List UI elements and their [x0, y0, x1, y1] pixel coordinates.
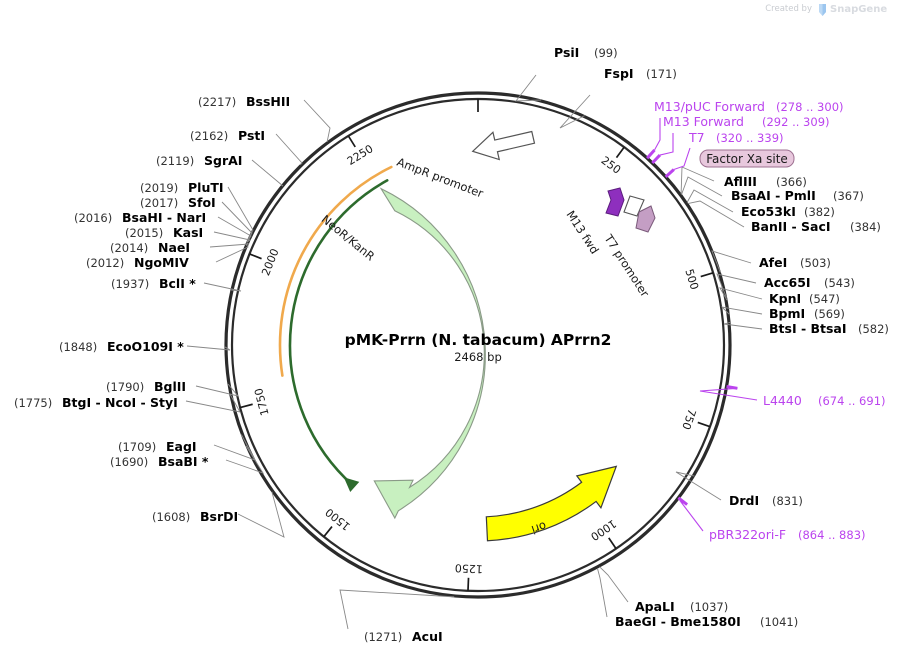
ruler-tick-label-1000: 1000 — [588, 517, 618, 543]
leader-line — [681, 167, 714, 194]
primer-label-m13fwd[interactable]: M13 Forward(292 .. 309) — [663, 114, 830, 129]
primer-range: (320 .. 339) — [716, 131, 784, 145]
enzyme-position: (1041) — [760, 615, 798, 629]
enzyme-position: (2016) — [74, 211, 112, 225]
primer-tick-m13puc — [647, 150, 654, 158]
feature-label-t7-promoter: T7 promoter — [601, 231, 652, 300]
primer-name: M13/pUC Forward — [654, 99, 765, 114]
enzyme-label-acc65I[interactable]: Acc65I(543) — [764, 275, 855, 290]
enzyme-label-btgI[interactable]: (1775)BtgI - NcoI - StyI — [14, 395, 178, 410]
leader-line — [204, 283, 241, 291]
enzyme-position: (367) — [833, 189, 864, 203]
enzyme-position: (99) — [594, 46, 618, 60]
enzyme-name: BanII - SacI — [751, 219, 831, 234]
enzyme-name: PsiI — [554, 45, 579, 60]
ruler-tick-mark — [698, 422, 710, 426]
leader-line — [218, 217, 251, 242]
primer-label-t7[interactable]: T7(320 .. 339) — [688, 130, 784, 145]
enzyme-name: ApaLI — [635, 599, 675, 614]
enzyme-name: BsaAI - PmlI — [731, 188, 816, 203]
enzyme-name: BglII — [154, 379, 186, 394]
feature-label-m13-fwd: M13 fwd — [563, 208, 601, 257]
enzyme-label-btsI[interactable]: BtsI - BtsaI(582) — [769, 321, 889, 336]
enzyme-position: (2119) — [156, 154, 194, 168]
leader-line — [676, 472, 721, 500]
primer-leader-l4440 — [700, 388, 757, 400]
enzyme-position: (2014) — [110, 241, 148, 255]
primer-name: L4440 — [763, 393, 802, 408]
enzyme-name: BsaBI * — [158, 454, 209, 469]
primer-label-m13puc[interactable]: M13/pUC Forward(278 .. 300) — [654, 99, 844, 114]
watermark-brand: SnapGene — [830, 4, 887, 15]
enzyme-label-banII[interactable]: BanII - SacI(384) — [751, 219, 881, 234]
enzyme-position: (2012) — [86, 256, 124, 270]
enzyme-name: DrdI — [729, 493, 759, 508]
ruler-tick-label-750: 750 — [679, 407, 698, 431]
ruler-tick-mark — [249, 254, 261, 259]
enzyme-label-apaLI[interactable]: ApaLI(1037) — [635, 599, 728, 614]
enzyme-position: (1775) — [14, 396, 52, 410]
ruler-tick-mark — [240, 404, 253, 407]
enzyme-position: (831) — [772, 494, 803, 508]
enzyme-label-kpnI[interactable]: KpnI(547) — [769, 291, 840, 306]
ruler-tick-label-250: 250 — [599, 154, 624, 177]
enzyme-label-bsaAI[interactable]: BsaAI - PmlI(367) — [731, 188, 864, 203]
enzyme-name: BaeGI - Bme1580I — [615, 614, 741, 629]
enzyme-name: PstI — [238, 128, 265, 143]
enzyme-position: (1608) — [152, 510, 190, 524]
enzyme-position: (1271) — [364, 630, 402, 644]
enzyme-label-fspI[interactable]: FspI(171) — [604, 66, 677, 81]
ruler-tick-mark — [324, 527, 332, 537]
snapgene-watermark: Created by SnapGene — [765, 4, 887, 16]
feature-label-neor-kanr: NeoR/KanR — [319, 212, 378, 263]
enzyme-name: BssHII — [246, 94, 290, 109]
leader-line — [304, 100, 330, 142]
enzyme-label-baeGI[interactable]: BaeGI - Bme1580I(1041) — [615, 614, 798, 629]
enzyme-name: SfoI — [188, 195, 216, 210]
ruler-tick-label-500: 500 — [682, 267, 701, 291]
leader-line — [597, 568, 607, 617]
ruler-tick-mark — [348, 136, 355, 147]
enzyme-position: (1937) — [111, 277, 149, 291]
primer-range: (864 .. 883) — [798, 528, 866, 542]
enzyme-label-sgrAI[interactable]: (2119)SgrAI — [156, 153, 242, 168]
enzyme-position: (569) — [814, 307, 845, 321]
enzyme-position: (2162) — [190, 129, 228, 143]
enzyme-position: (1037) — [690, 600, 728, 614]
primer-label-l4440[interactable]: L4440(674 .. 691) — [763, 393, 886, 408]
primer-tick-t7 — [666, 169, 674, 176]
ruler-tick-label-2250: 2250 — [345, 142, 376, 168]
enzyme-name: AfeI — [759, 255, 787, 270]
enzyme-position: (1709) — [118, 440, 156, 454]
enzyme-name: Eco53kI — [741, 204, 796, 219]
enzyme-position: (171) — [646, 67, 677, 81]
primer-range: (674 .. 691) — [818, 394, 886, 408]
enzyme-name: FspI — [604, 66, 634, 81]
enzyme-label-aflIII[interactable]: AflIII(366) — [724, 174, 807, 189]
enzyme-label-pluTI[interactable]: (2019)PluTI — [140, 180, 224, 195]
plasmid-size: 2468 bp — [454, 350, 502, 364]
enzyme-name: Acc65I — [764, 275, 811, 290]
enzyme-position: (582) — [858, 322, 889, 336]
enzyme-name: AcuI — [412, 629, 443, 644]
enzyme-position: (1690) — [110, 455, 148, 469]
badge-factor-xa-site[interactable]: Factor Xa site — [700, 150, 794, 167]
enzyme-name: PluTI — [188, 180, 224, 195]
enzyme-label-acuI[interactable]: (1271)AcuI — [364, 629, 443, 644]
enzyme-label-psiI[interactable]: PsiI(99) — [554, 45, 618, 60]
enzyme-label-bglII[interactable]: (1790)BglII — [106, 379, 186, 394]
leader-line — [228, 187, 253, 240]
ruler-tick-mark — [609, 538, 616, 549]
leader-line — [681, 177, 722, 196]
feature-label-ampr-promoter: AmpR promoter — [395, 155, 486, 201]
enzyme-label-bsaHI[interactable]: (2016)BsaHI - NarI — [74, 210, 206, 225]
enzyme-position: (382) — [804, 205, 835, 219]
primer-leader-m13fwd — [660, 133, 673, 155]
enzyme-label-pstI[interactable]: (2162)PstI — [190, 128, 265, 143]
enzyme-position: (2017) — [140, 196, 178, 210]
leader-line — [214, 232, 250, 242]
leader-line — [687, 190, 733, 212]
feature-arcs — [280, 167, 391, 491]
enzyme-name: KasI — [173, 225, 203, 240]
enzyme-label-eco53kI[interactable]: Eco53kI(382) — [741, 204, 835, 219]
enzyme-name: BsrDI — [200, 509, 238, 524]
enzyme-name: BtgI - NcoI - StyI — [62, 395, 178, 410]
leader-line — [252, 160, 283, 186]
enzyme-label-bsaBI[interactable]: (1690)BsaBI * — [110, 454, 209, 469]
ruler-tick-mark — [468, 578, 469, 591]
snapgene-logo-icon — [819, 4, 826, 16]
primer-tick-m13fwd — [652, 155, 660, 163]
m13-fwd-arrow-icon — [606, 188, 624, 216]
leader-line — [196, 384, 238, 396]
enzyme-label-bpmI[interactable]: BpmI(569) — [769, 306, 845, 321]
plasmid-title-group: pMK-Prrn (N. tabacum) APrrn2 2468 bp — [345, 331, 612, 364]
enzyme-position: (384) — [850, 220, 881, 234]
feature-ampr-promoter[interactable]: AmpR promoter — [395, 124, 536, 201]
primer-name: T7 — [688, 130, 705, 145]
watermark-prefix: Created by — [765, 4, 812, 14]
enzyme-label-bssHII[interactable]: (2217)BssHII — [198, 94, 290, 109]
primer-label-pbr322[interactable]: pBR322ori-F(864 .. 883) — [709, 527, 866, 542]
enzyme-name: NgoMIV — [134, 255, 189, 270]
enzyme-name: NaeI — [158, 240, 190, 255]
ruler-tick-mark — [616, 147, 624, 157]
enzyme-position: (366) — [776, 175, 807, 189]
enzyme-position: (543) — [824, 276, 855, 290]
enzyme-name: BtsI - BtsaI — [769, 321, 847, 336]
enzyme-label-afeI[interactable]: AfeI(503) — [759, 255, 831, 270]
primer-leader-pbr322 — [681, 502, 703, 531]
enzyme-label-drdI[interactable]: DrdI(831) — [729, 493, 803, 508]
leader-line — [340, 590, 454, 629]
primer-leader-t7 — [674, 148, 690, 169]
primer-range: (278 .. 300) — [776, 100, 844, 114]
factor-xa-badge-label: Factor Xa site — [706, 152, 788, 166]
enzyme-name: BclI * — [159, 276, 196, 291]
enzyme-label-kasI[interactable]: (2015)KasI — [125, 225, 203, 240]
enzyme-position: (2019) — [140, 181, 178, 195]
enzyme-position: (1790) — [106, 380, 144, 394]
ruler-tick-label-1500: 1500 — [323, 505, 353, 533]
leader-line — [187, 346, 230, 350]
ruler-tick-mark — [701, 273, 713, 277]
leader-line — [276, 134, 302, 165]
enzyme-label-bsrDI[interactable]: (1608)BsrDI — [152, 509, 238, 524]
enzyme-name: EagI — [166, 439, 197, 454]
plasmid-name: pMK-Prrn (N. tabacum) APrrn2 — [345, 331, 612, 349]
leader-line — [210, 243, 249, 247]
enzyme-label-ecoO109I[interactable]: (1848)EcoO109I * — [59, 339, 184, 354]
enzyme-name: AflIII — [724, 174, 757, 189]
plasmid-map-svg: Created by SnapGene 25050075010001250150… — [0, 0, 909, 655]
enzyme-name: BpmI — [769, 306, 805, 321]
enzyme-name: SgrAI — [204, 153, 242, 168]
primer-leader-m13puc — [655, 118, 660, 150]
enzyme-position: (2217) — [198, 95, 236, 109]
ampr-promoter-arrow-icon — [470, 124, 537, 165]
enzyme-position: (1848) — [59, 340, 97, 354]
ruler-tick-label-1250: 1250 — [455, 561, 484, 575]
leader-line — [688, 201, 744, 227]
enzyme-label-bclI[interactable]: (1937)BclI * — [111, 276, 196, 291]
ruler-tick-label-2000: 2000 — [259, 247, 281, 278]
enzyme-name: KpnI — [769, 291, 801, 306]
leader-line — [600, 567, 628, 602]
enzyme-label-sfoI[interactable]: (2017)SfoI — [140, 195, 216, 210]
enzyme-name: EcoO109I * — [107, 339, 184, 354]
enzyme-name: BsaHI - NarI — [122, 210, 206, 225]
enzyme-position: (547) — [809, 292, 840, 306]
primer-name: M13 Forward — [663, 114, 744, 129]
enzyme-label-eagI[interactable]: (1709)EagI — [118, 439, 197, 454]
enzyme-position: (503) — [800, 256, 831, 270]
primer-name: pBR322ori-F — [709, 527, 786, 542]
enzyme-label-ngoMIV[interactable]: (2012)NgoMIV — [86, 255, 189, 270]
enzyme-position: (2015) — [125, 226, 163, 240]
primer-range: (292 .. 309) — [762, 115, 830, 129]
plasmid-map-canvas: Created by SnapGene 25050075010001250150… — [0, 0, 909, 655]
enzyme-label-naeI[interactable]: (2014)NaeI — [110, 240, 190, 255]
ruler-tick-label-1750: 1750 — [252, 387, 272, 417]
